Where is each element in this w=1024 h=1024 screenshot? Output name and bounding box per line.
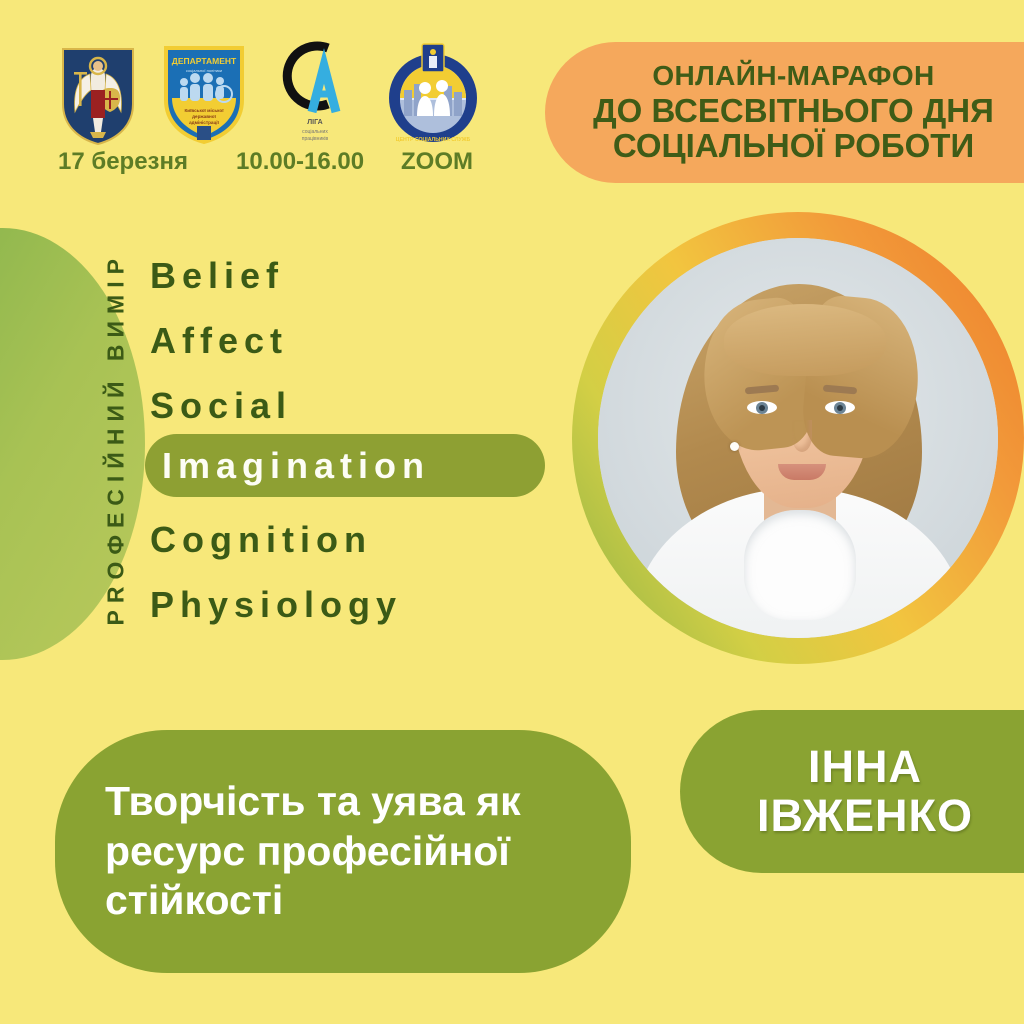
svg-text:Київської міської: Київської міської xyxy=(184,108,224,113)
svg-text:працівників: працівників xyxy=(302,136,329,142)
topic-line-3: стійкості xyxy=(105,876,521,926)
word-item-belief: Belief xyxy=(150,258,570,294)
logo-strip: ДЕПАРТАМЕНТ соціальної політики Київсько… xyxy=(60,24,520,146)
basic-ph-word-list: Belief Affect Social Imagination Cogniti… xyxy=(150,258,570,652)
side-vertical-label: PROФЕСІЙНИЙ ВИМІР xyxy=(103,266,130,626)
speaker-last-name: ІВЖЕНКО xyxy=(757,792,973,841)
svg-text:державної: державної xyxy=(192,114,216,119)
svg-text:адміністрації: адміністрації xyxy=(189,120,219,125)
speaker-name-panel: ІННА ІВЖЕНКО xyxy=(680,710,1024,873)
header-line-1: ОНЛАЙН-МАРАФОН xyxy=(652,61,934,91)
topic-line-1: Творчість та уява як xyxy=(105,777,521,827)
topic-pill: Творчість та уява як ресурс професійної … xyxy=(55,730,631,973)
speaker-first-name: ІННА xyxy=(808,743,922,792)
word-item-affect: Affect xyxy=(150,323,570,359)
speaker-photo-ring xyxy=(572,212,1024,664)
svg-text:ДЕПАРТАМЕНТ: ДЕПАРТАМЕНТ xyxy=(172,56,237,66)
city-center-emblem-icon: ЦЕНТР СОЦІАЛЬНИХ СЛУЖБ xyxy=(384,42,482,146)
header-banner: ОНЛАЙН-МАРАФОН ДО ВСЕСВІТНЬОГО ДНЯ СОЦІА… xyxy=(545,42,1024,183)
word-item-imagination-highlighted: Imagination xyxy=(145,434,545,497)
liga-logo-icon: ЛІГА соціальних працівників xyxy=(272,38,358,146)
kyiv-coat-of-arms-icon xyxy=(60,46,136,146)
poster-canvas: PROФЕСІЙНИЙ ВИМІР xyxy=(0,0,1024,1024)
event-time: 10.00-16.00 xyxy=(236,148,401,176)
header-line-3: СОЦІАЛЬНОЇ РОБОТИ xyxy=(613,129,974,164)
svg-text:соціальних: соціальних xyxy=(302,129,328,135)
event-platform: ZOOM xyxy=(401,148,501,176)
topic-text: Творчість та уява як ресурс професійної … xyxy=(105,777,521,926)
department-shield-icon: ДЕПАРТАМЕНТ соціальної політики Київсько… xyxy=(162,42,246,146)
event-meta-row: 17 березня 10.00-16.00 ZOOM xyxy=(58,148,518,176)
svg-text:ЦЕНТР СОЦІАЛЬНИХ СЛУЖБ: ЦЕНТР СОЦІАЛЬНИХ СЛУЖБ xyxy=(396,137,471,143)
word-item-physiology: Physiology xyxy=(150,587,570,623)
svg-text:соціальної політики: соціальної політики xyxy=(186,68,222,73)
event-date: 17 березня xyxy=(58,148,236,176)
header-line-2: ДО ВСЕСВІТНЬОГО ДНЯ xyxy=(593,94,994,129)
speaker-photo xyxy=(598,238,998,638)
word-item-social: Social xyxy=(150,388,570,424)
word-item-cognition: Cognition xyxy=(150,522,570,558)
svg-text:ЛІГА: ЛІГА xyxy=(307,119,322,126)
topic-line-2: ресурс професійної xyxy=(105,827,521,877)
